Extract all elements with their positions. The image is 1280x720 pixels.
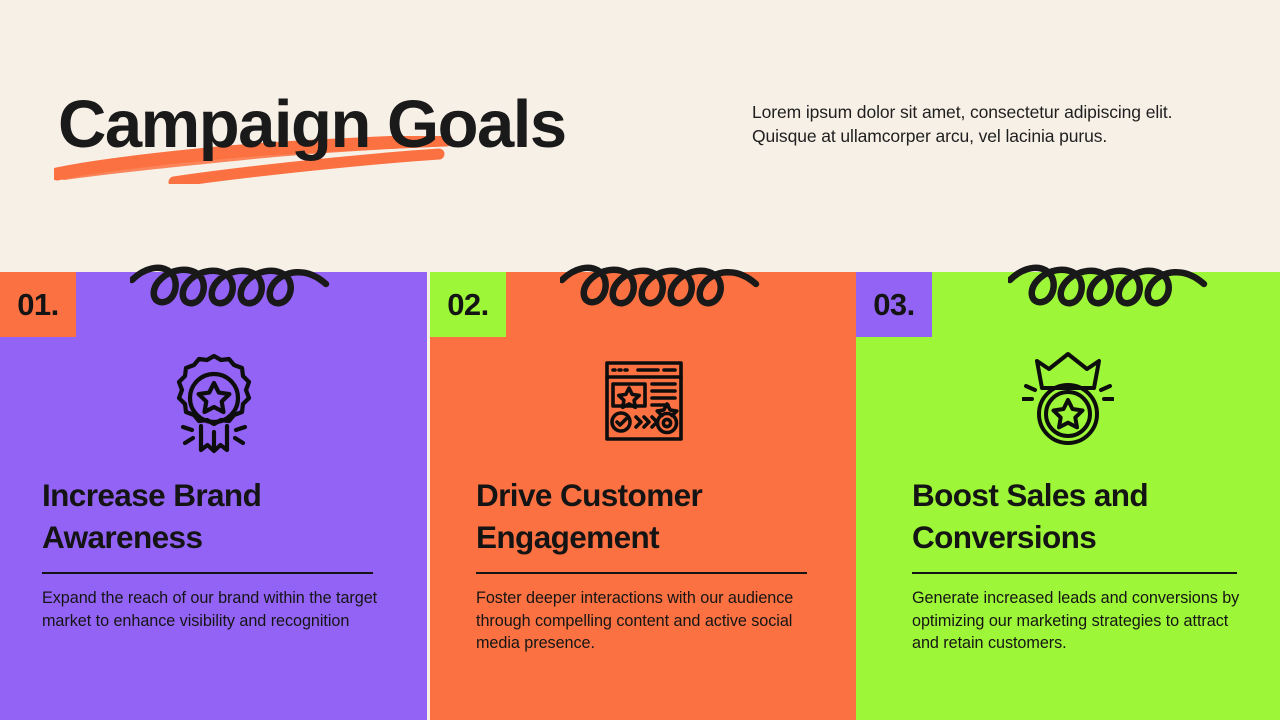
landing-page-review-icon xyxy=(430,350,857,442)
goal-card-3[interactable]: 03. Boost Sales and Conversions xyxy=(856,272,1280,720)
card-number-badge-2: 02. xyxy=(430,272,506,337)
card-title-2: Drive Customer Engagement xyxy=(476,474,818,558)
page-title: Campaign Goals xyxy=(58,84,698,166)
title-group: Campaign Goals xyxy=(58,84,698,194)
crown-medal-icon xyxy=(856,350,1280,450)
card-divider-2 xyxy=(476,572,807,574)
header-section: Campaign Goals Lorem ipsum dolor sit ame… xyxy=(0,0,1280,272)
card-divider-3 xyxy=(912,572,1237,574)
card-body-2: Drive Customer Engagement Foster deeper … xyxy=(476,474,818,655)
card-number-label: 03. xyxy=(873,289,915,320)
card-number-label: 01. xyxy=(17,289,59,320)
subtitle-text: Lorem ipsum dolor sit amet, consectetur … xyxy=(752,100,1222,148)
goal-card-2[interactable]: 02. xyxy=(430,272,857,720)
card-body-1: Increase Brand Awareness Expand the reac… xyxy=(42,474,384,632)
card-description-1: Expand the reach of our brand within the… xyxy=(42,587,384,632)
card-number-badge-3: 03. xyxy=(856,272,932,337)
card-title-1: Increase Brand Awareness xyxy=(42,474,384,558)
card-number-label: 02. xyxy=(447,289,489,320)
card-description-3: Generate increased leads and conversions… xyxy=(912,587,1244,655)
card-body-3: Boost Sales and Conversions Generate inc… xyxy=(912,474,1244,655)
award-rosette-icon xyxy=(0,350,427,454)
card-title-3: Boost Sales and Conversions xyxy=(912,474,1244,558)
goal-card-1[interactable]: 01. Increase Brand A xyxy=(0,272,427,720)
card-description-2: Foster deeper interactions with our audi… xyxy=(476,587,818,655)
goal-cards-row: 01. Increase Brand A xyxy=(0,272,1280,720)
card-number-badge-1: 01. xyxy=(0,272,76,337)
slide-canvas: Campaign Goals Lorem ipsum dolor sit ame… xyxy=(0,0,1280,720)
card-divider-1 xyxy=(42,572,373,574)
